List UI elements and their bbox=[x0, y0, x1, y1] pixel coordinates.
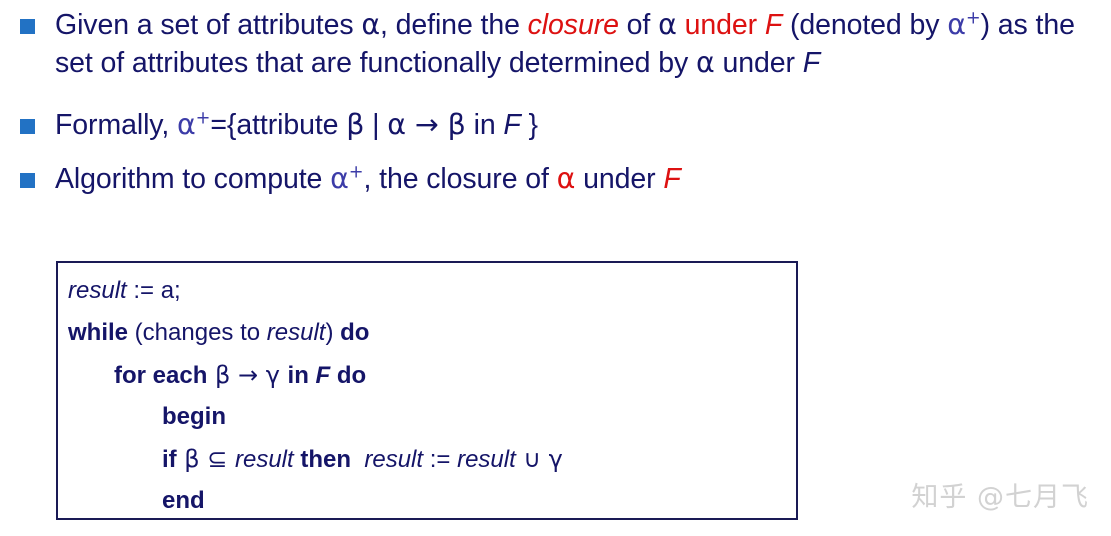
bullet-text-3: Algorithm to compute α+, the closure of … bbox=[55, 163, 681, 195]
slide-canvas: Given a set of attributes α, define the … bbox=[0, 0, 1111, 536]
list-item: Algorithm to compute α+, the closure of … bbox=[0, 160, 1111, 198]
algorithm-line-3: for each β → γ in F do bbox=[114, 361, 366, 390]
bullet-text-2: Formally, α+={attribute β | α → β in F } bbox=[55, 109, 538, 141]
algorithm-line-6: end bbox=[162, 487, 205, 515]
bullet-text-1: Given a set of attributes α, define the … bbox=[55, 9, 1075, 79]
list-item: Formally, α+={attribute β | α → β in F } bbox=[0, 106, 1111, 144]
list-item: Given a set of attributes α, define the … bbox=[0, 6, 1111, 82]
algorithm-line-5: if β ⊆ result then result := result ∪ γ bbox=[162, 445, 563, 474]
watermark: 知乎 @七月飞 bbox=[911, 475, 1089, 514]
algorithm-line-2: while (changes to result) do bbox=[68, 319, 369, 347]
square-bullet-icon bbox=[20, 19, 35, 34]
algorithm-line-1: result := a; bbox=[68, 277, 181, 305]
algorithm-line-4: begin bbox=[162, 403, 226, 431]
square-bullet-icon bbox=[20, 173, 35, 188]
algorithm-box: result := a; while (changes to result) d… bbox=[56, 261, 798, 520]
square-bullet-icon bbox=[20, 119, 35, 134]
bullet-list: Given a set of attributes α, define the … bbox=[0, 0, 1111, 170]
